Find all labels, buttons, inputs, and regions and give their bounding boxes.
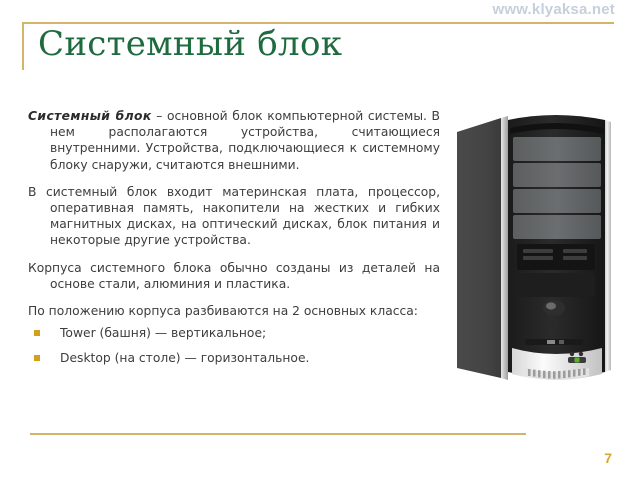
paragraph-4: По положению корпуса разбиваются на 2 ос… xyxy=(28,303,440,319)
reset-button xyxy=(550,323,559,330)
paragraph-2: В системный блок входит материнская плат… xyxy=(28,184,440,249)
front-port xyxy=(547,340,555,344)
list-item-label: Desktop (на столе) — горизонтальное. xyxy=(60,351,309,365)
site-watermark: www.klyaksa.net xyxy=(492,1,615,18)
square-bullet-icon xyxy=(34,330,40,336)
card-slot xyxy=(523,249,553,253)
power-button-highlight xyxy=(546,302,556,309)
list-item: Tower (башня) — вертикальное; xyxy=(28,325,440,341)
case-edge-strip xyxy=(501,116,508,380)
card-slot xyxy=(523,256,553,260)
footer-rule xyxy=(30,433,526,435)
drive-bay-cover xyxy=(513,215,601,239)
blank-bay xyxy=(517,273,595,297)
drive-bay-cover xyxy=(513,137,601,161)
front-port xyxy=(559,340,564,344)
paragraph-3: Корпуса системного блока обычно созданы … xyxy=(28,260,440,292)
title-left-rule xyxy=(22,22,24,70)
card-slot xyxy=(563,249,587,253)
paragraph-1: Системный блок – основной блок компьютер… xyxy=(28,108,440,173)
computer-tower-image xyxy=(455,110,615,400)
square-bullet-icon xyxy=(34,355,40,361)
slide-canvas: www.klyaksa.net Системный блок Системный… xyxy=(0,0,640,480)
drive-bay-cover xyxy=(513,189,601,213)
page-title: Системный блок xyxy=(38,24,342,64)
case-right-rim xyxy=(605,120,611,372)
page-number: 7 xyxy=(604,450,612,466)
case-type-list: Tower (башня) — вертикальное; Desktop (н… xyxy=(28,325,440,366)
body-text-column: Системный блок – основной блок компьютер… xyxy=(28,108,440,375)
paragraph-1-lead: Системный блок xyxy=(28,109,152,123)
list-item-label: Tower (башня) — вертикальное; xyxy=(60,326,266,340)
list-item: Desktop (на столе) — горизонтальное. xyxy=(28,350,440,366)
card-slot xyxy=(563,256,587,260)
case-side-panel xyxy=(457,118,501,378)
drive-bay-cover xyxy=(513,163,601,187)
